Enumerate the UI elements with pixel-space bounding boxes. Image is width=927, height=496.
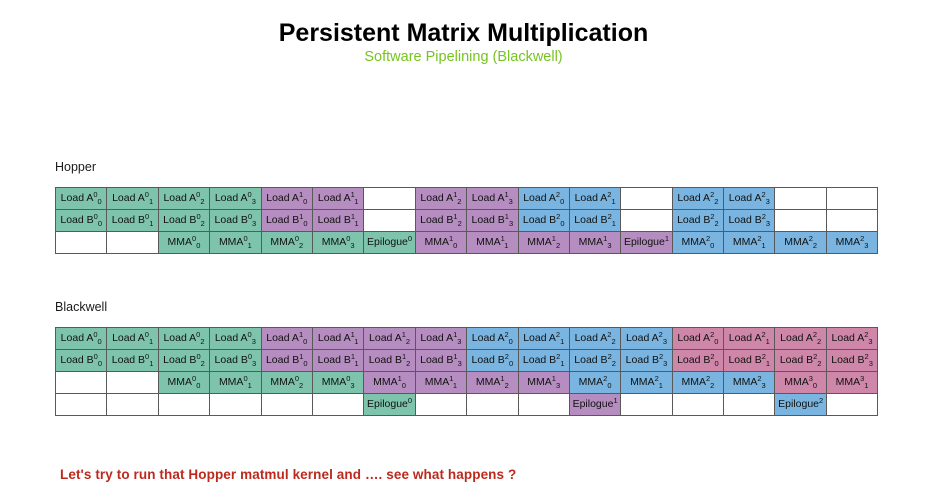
hopper-cell-epilogue-1: Epilogue1	[621, 232, 672, 254]
hopper-section-label: Hopper	[55, 160, 96, 174]
blackwell-epilogue-row: Epilogue0Epilogue1Epilogue2	[56, 394, 878, 416]
blackwell-cell-load-b-2-2: Load B22	[775, 350, 826, 372]
page-subtitle: Software Pipelining (Blackwell)	[0, 49, 927, 65]
hopper-cell-load-a-0-2: Load A02	[158, 188, 209, 210]
blackwell-cell-mma-0-0: MMA00	[158, 372, 209, 394]
blackwell-empty-cell	[261, 394, 312, 416]
blackwell-cell-load-b-1-0: Load B10	[261, 350, 312, 372]
footnote-text: Let's try to run that Hopper matmul kern…	[60, 467, 516, 482]
blackwell-empty-cell	[826, 394, 877, 416]
blackwell-mma-row: MMA00MMA01MMA02MMA03MMA10MMA11MMA12MMA13…	[56, 372, 878, 394]
hopper-cell-load-a-2-1: Load A21	[569, 188, 620, 210]
blackwell-cell-load-b-0-3: Load B03	[210, 350, 261, 372]
blackwell-empty-cell	[312, 394, 363, 416]
hopper-cell-load-a-2-0: Load A20	[518, 188, 569, 210]
hopper-cell-load-b-1-2: Load B12	[415, 210, 466, 232]
blackwell-cell-load-b-2-2: Load B22	[569, 350, 620, 372]
hopper-cell-load-b-2-3: Load B23	[724, 210, 775, 232]
hopper-cell-mma-1-1: MMA11	[467, 232, 518, 254]
hopper-cell-load-b-0-2: Load B02	[158, 210, 209, 232]
hopper-empty-cell	[364, 188, 415, 210]
blackwell-cell-mma-2-3: MMA23	[724, 372, 775, 394]
blackwell-cell-load-b-1-3: Load B13	[415, 350, 466, 372]
blackwell-empty-cell	[210, 394, 261, 416]
blackwell-empty-cell	[621, 394, 672, 416]
blackwell-cell-load-b-1-2: Load B12	[364, 350, 415, 372]
hopper-cell-load-a-0-1: Load A01	[107, 188, 158, 210]
blackwell-empty-cell	[107, 372, 158, 394]
blackwell-cell-mma-3-0: MMA30	[775, 372, 826, 394]
blackwell-cell-load-a-0-0: Load A00	[56, 328, 107, 350]
blackwell-cell-load-b-0-1: Load B01	[107, 350, 158, 372]
blackwell-cell-mma-1-2: MMA12	[467, 372, 518, 394]
blackwell-cell-load-b-1-1: Load B11	[312, 350, 363, 372]
page-title: Persistent Matrix Multiplication	[0, 19, 927, 48]
blackwell-cell-load-b-2-1: Load B21	[724, 350, 775, 372]
hopper-cell-load-a-0-3: Load A03	[210, 188, 261, 210]
hopper-cell-load-b-1-1: Load B11	[312, 210, 363, 232]
blackwell-cell-mma-1-0: MMA10	[364, 372, 415, 394]
hopper-cell-mma-2-0: MMA20	[672, 232, 723, 254]
blackwell-cell-load-a-2-2: Load A22	[569, 328, 620, 350]
hopper-empty-cell	[621, 210, 672, 232]
hopper-cell-load-b-2-2: Load B22	[672, 210, 723, 232]
hopper-cell-load-b-1-0: Load B10	[261, 210, 312, 232]
blackwell-cell-load-a-0-2: Load A02	[158, 328, 209, 350]
hopper-cell-mma-0-1: MMA01	[210, 232, 261, 254]
blackwell-load-b-row: Load B00Load B01Load B02Load B03Load B10…	[56, 350, 878, 372]
hopper-mma-row: MMA00MMA01MMA02MMA03Epilogue0MMA10MMA11M…	[56, 232, 878, 254]
blackwell-cell-mma-0-3: MMA03	[312, 372, 363, 394]
hopper-schedule-table: Load A00Load A01Load A02Load A03Load A10…	[55, 187, 878, 254]
hopper-cell-load-a-2-3: Load A23	[724, 188, 775, 210]
blackwell-cell-load-b-0-2: Load B02	[158, 350, 209, 372]
hopper-empty-cell	[826, 188, 877, 210]
blackwell-cell-mma-0-2: MMA02	[261, 372, 312, 394]
blackwell-cell-load-a-1-1: Load A11	[312, 328, 363, 350]
blackwell-empty-cell	[158, 394, 209, 416]
hopper-cell-mma-1-0: MMA10	[415, 232, 466, 254]
blackwell-cell-mma-3-1: MMA31	[826, 372, 877, 394]
hopper-empty-cell	[621, 188, 672, 210]
blackwell-cell-load-a-0-3: Load A03	[210, 328, 261, 350]
hopper-empty-cell	[364, 210, 415, 232]
blackwell-cell-epilogue-2: Epilogue2	[775, 394, 826, 416]
hopper-cell-load-b-0-0: Load B00	[56, 210, 107, 232]
blackwell-cell-epilogue-0: Epilogue0	[364, 394, 415, 416]
hopper-cell-load-b-2-0: Load B20	[518, 210, 569, 232]
blackwell-empty-cell	[672, 394, 723, 416]
blackwell-cell-load-b-2-1: Load B21	[518, 350, 569, 372]
blackwell-cell-mma-1-3: MMA13	[518, 372, 569, 394]
blackwell-cell-load-a-2-0: Load A20	[672, 328, 723, 350]
blackwell-empty-cell	[724, 394, 775, 416]
hopper-cell-load-b-2-1: Load B21	[569, 210, 620, 232]
hopper-empty-cell	[56, 232, 107, 254]
hopper-cell-mma-1-3: MMA13	[569, 232, 620, 254]
blackwell-cell-epilogue-1: Epilogue1	[569, 394, 620, 416]
hopper-empty-cell	[775, 188, 826, 210]
blackwell-cell-load-a-1-0: Load A10	[261, 328, 312, 350]
blackwell-load-a-row: Load A00Load A01Load A02Load A03Load A10…	[56, 328, 878, 350]
blackwell-schedule-table: Load A00Load A01Load A02Load A03Load A10…	[55, 327, 878, 416]
hopper-load-b-row: Load B00Load B01Load B02Load B03Load B10…	[56, 210, 878, 232]
blackwell-cell-load-a-2-0: Load A20	[467, 328, 518, 350]
hopper-cell-load-a-1-2: Load A12	[415, 188, 466, 210]
hopper-cell-load-b-0-3: Load B03	[210, 210, 261, 232]
blackwell-section-label: Blackwell	[55, 300, 107, 314]
hopper-cell-load-a-2-2: Load A22	[672, 188, 723, 210]
blackwell-empty-cell	[415, 394, 466, 416]
blackwell-cell-load-b-2-3: Load B23	[826, 350, 877, 372]
hopper-cell-mma-0-2: MMA02	[261, 232, 312, 254]
blackwell-cell-load-a-2-3: Load A23	[826, 328, 877, 350]
blackwell-cell-mma-0-1: MMA01	[210, 372, 261, 394]
hopper-cell-epilogue-0: Epilogue0	[364, 232, 415, 254]
hopper-cell-load-b-0-1: Load B01	[107, 210, 158, 232]
blackwell-empty-cell	[467, 394, 518, 416]
hopper-load-a-row: Load A00Load A01Load A02Load A03Load A10…	[56, 188, 878, 210]
blackwell-cell-mma-2-2: MMA22	[672, 372, 723, 394]
hopper-cell-load-a-0-0: Load A00	[56, 188, 107, 210]
blackwell-empty-cell	[56, 372, 107, 394]
blackwell-cell-load-a-2-3: Load A23	[621, 328, 672, 350]
hopper-cell-mma-2-3: MMA23	[826, 232, 877, 254]
hopper-cell-mma-1-2: MMA12	[518, 232, 569, 254]
blackwell-empty-cell	[518, 394, 569, 416]
blackwell-cell-load-a-1-3: Load A13	[415, 328, 466, 350]
hopper-empty-cell	[826, 210, 877, 232]
blackwell-cell-load-b-2-3: Load B23	[621, 350, 672, 372]
hopper-cell-load-a-1-1: Load A11	[312, 188, 363, 210]
blackwell-empty-cell	[107, 394, 158, 416]
slide-canvas: Persistent Matrix Multiplication Softwar…	[0, 0, 927, 496]
hopper-cell-load-b-1-3: Load B13	[467, 210, 518, 232]
blackwell-table-body: Load A00Load A01Load A02Load A03Load A10…	[56, 328, 878, 416]
blackwell-cell-load-b-2-0: Load B20	[467, 350, 518, 372]
blackwell-cell-mma-1-1: MMA11	[415, 372, 466, 394]
blackwell-cell-mma-2-0: MMA20	[569, 372, 620, 394]
hopper-cell-mma-2-2: MMA22	[775, 232, 826, 254]
hopper-empty-cell	[775, 210, 826, 232]
hopper-cell-load-a-1-3: Load A13	[467, 188, 518, 210]
hopper-cell-load-a-1-0: Load A10	[261, 188, 312, 210]
hopper-table-body: Load A00Load A01Load A02Load A03Load A10…	[56, 188, 878, 254]
hopper-cell-mma-0-3: MMA03	[312, 232, 363, 254]
blackwell-cell-load-a-0-1: Load A01	[107, 328, 158, 350]
blackwell-cell-load-a-1-2: Load A12	[364, 328, 415, 350]
blackwell-cell-load-b-0-0: Load B00	[56, 350, 107, 372]
hopper-empty-cell	[107, 232, 158, 254]
hopper-cell-mma-2-1: MMA21	[724, 232, 775, 254]
blackwell-cell-load-b-2-0: Load B20	[672, 350, 723, 372]
blackwell-cell-load-a-2-1: Load A21	[518, 328, 569, 350]
blackwell-empty-cell	[56, 394, 107, 416]
blackwell-cell-load-a-2-1: Load A21	[724, 328, 775, 350]
blackwell-cell-mma-2-1: MMA21	[621, 372, 672, 394]
hopper-cell-mma-0-0: MMA00	[158, 232, 209, 254]
blackwell-cell-load-a-2-2: Load A22	[775, 328, 826, 350]
